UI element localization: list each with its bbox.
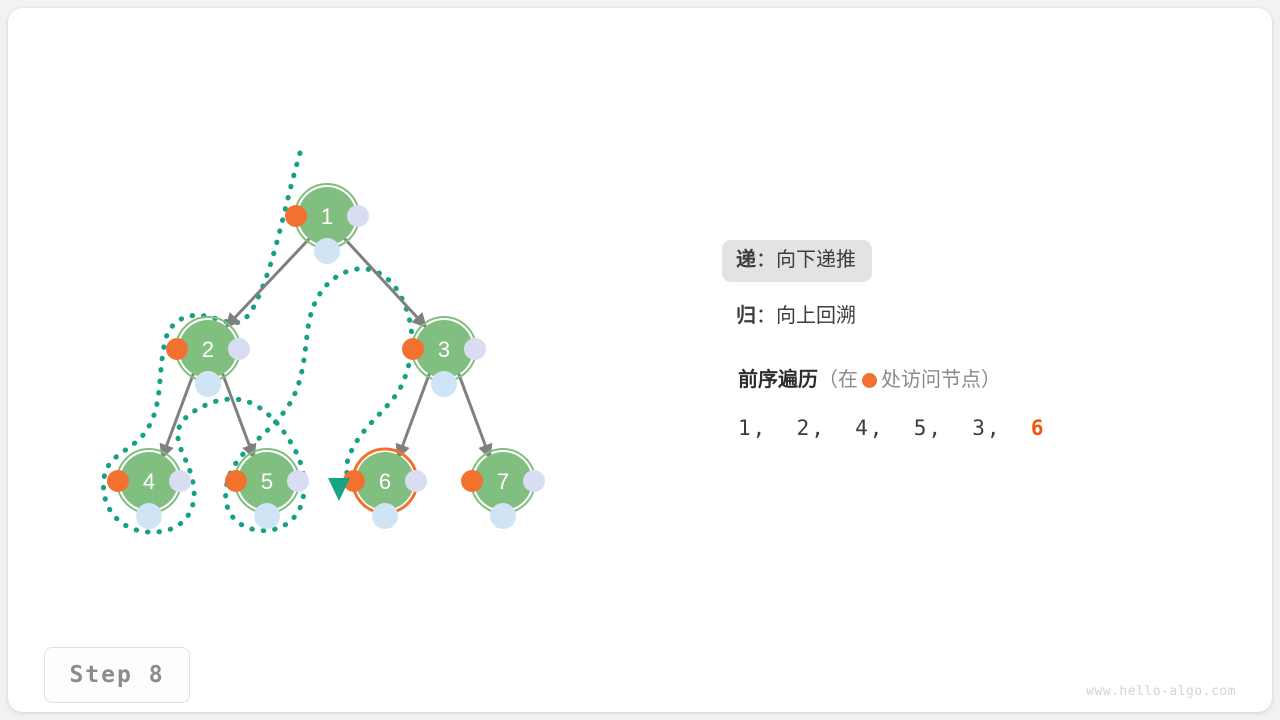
legend-backtrack-text: 向上回溯 [776, 305, 856, 327]
node-7-label: 7 [497, 469, 509, 494]
node-6-right-dot [405, 470, 427, 492]
orange-dot-icon [862, 373, 877, 388]
node-2-right-dot [228, 338, 250, 360]
legend-panel: 递：向下递推 归：向上回溯 [736, 240, 1206, 352]
current-position-marker-icon [328, 478, 350, 501]
traversal-sequence-head: 1, 2, 4, 5, 3, [738, 416, 1031, 440]
traversal-panel: 前序遍历（在处访问节点） 1, 2, 4, 5, 3, 6 [738, 370, 1208, 440]
edge-3-7 [458, 372, 490, 458]
step-badge: Step 8 [44, 647, 190, 703]
node-2-label: 2 [202, 337, 214, 362]
traversal-title: 前序遍历（在处访问节点） [738, 370, 1208, 390]
legend-recurse-label: 递 [736, 249, 756, 271]
node-3-visit-dot [402, 338, 424, 360]
node-3-bottom-dot [431, 371, 457, 397]
edge-2-5 [222, 372, 254, 458]
node-3-right-dot [464, 338, 486, 360]
legend-recurse-text: 向下递推 [776, 249, 856, 271]
node-6-label: 6 [379, 469, 391, 494]
legend-recurse-chip: 递：向下递推 [722, 240, 872, 282]
node-3-label: 3 [438, 337, 450, 362]
traversal-sequence-current: 6 [1031, 416, 1046, 440]
tree-node-4[interactable]: 4 [107, 449, 191, 529]
tree-node-7[interactable]: 7 [461, 449, 545, 529]
traversal-title-suffix: 处访问节点） [881, 369, 1001, 391]
traversal-title-strong: 前序遍历 [738, 369, 818, 391]
traversal-title-prefix: （在 [818, 369, 858, 391]
edge-3-6 [398, 372, 430, 458]
node-6-bottom-dot [372, 503, 398, 529]
legend-recurse-line: 递：向下递推 [736, 240, 1206, 282]
node-4-right-dot [169, 470, 191, 492]
edge-2-4 [162, 372, 194, 458]
legend-recurse-separator: ： [756, 249, 776, 271]
watermark: www.hello-algo.com [1086, 684, 1236, 699]
node-1-bottom-dot [314, 238, 340, 264]
node-1-label: 1 [321, 204, 333, 229]
node-7-visit-dot [461, 470, 483, 492]
legend-backtrack-separator: ： [756, 305, 776, 327]
edge-1-3 [344, 238, 426, 327]
node-2-bottom-dot [195, 371, 221, 397]
node-1-visit-dot [285, 205, 307, 227]
legend-backtrack-label: 归 [736, 305, 756, 327]
tree-node-2[interactable]: 2 [166, 317, 250, 397]
node-4-label: 4 [143, 469, 155, 494]
figure-card: 1 2 3 [8, 8, 1272, 712]
binary-tree-diagram: 1 2 3 [8, 8, 1272, 712]
node-5-right-dot [287, 470, 309, 492]
legend-backtrack-line: 归：向上回溯 [736, 296, 1206, 338]
legend-backtrack-chip: 归：向上回溯 [722, 296, 872, 338]
node-5-bottom-dot [254, 503, 280, 529]
node-5-visit-dot [225, 470, 247, 492]
node-7-bottom-dot [490, 503, 516, 529]
tree-node-6[interactable]: 6 [343, 449, 427, 529]
screenshot-root: 1 2 3 [0, 0, 1280, 720]
tree-node-3[interactable]: 3 [402, 317, 486, 397]
edge-1-2 [226, 238, 310, 327]
node-4-visit-dot [107, 470, 129, 492]
traversal-sequence: 1, 2, 4, 5, 3, 6 [738, 416, 1208, 440]
node-5-label: 5 [261, 469, 273, 494]
node-2-visit-dot [166, 338, 188, 360]
node-1-right-dot [347, 205, 369, 227]
node-4-bottom-dot [136, 503, 162, 529]
node-7-right-dot [523, 470, 545, 492]
